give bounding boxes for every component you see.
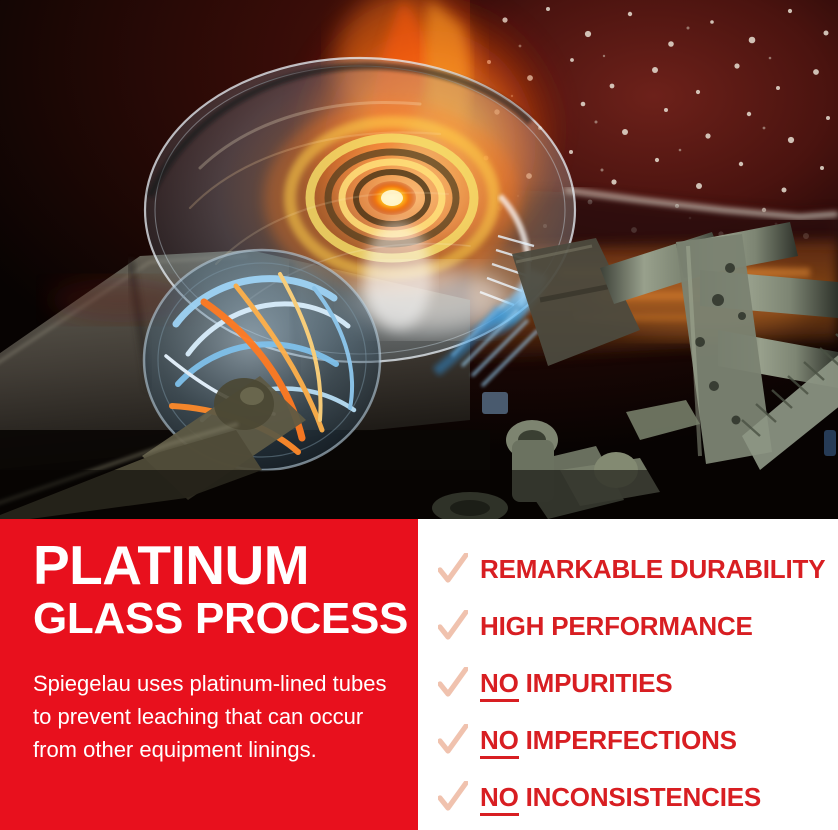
- benefit-negation: NO: [480, 725, 519, 759]
- benefit-item-high-performance: HIGH PERFORMANCE: [438, 604, 838, 648]
- benefit-label-rest: IMPURITIES: [519, 668, 673, 698]
- benefit-label: NO IMPERFECTIONS: [480, 725, 737, 756]
- benefit-negation: NO: [480, 782, 519, 816]
- check-icon: [438, 667, 468, 699]
- check-icon: [438, 553, 468, 585]
- check-icon: [438, 724, 468, 756]
- page-title-line2: GLASS PROCESS: [33, 596, 408, 642]
- check-icon: [438, 781, 468, 813]
- description-line-1: Spiegelau uses platinum-lined tubes: [33, 667, 393, 700]
- platinum-glass-process-poster: PLATINUM GLASS PROCESS Spiegelau uses pl…: [0, 0, 838, 830]
- benefit-item-remarkable-durability: REMARKABLE DURABILITY: [438, 547, 838, 591]
- description-line-3: from other equipment linings.: [33, 733, 393, 766]
- benefit-label-rest: INCONSISTENCIES: [519, 782, 761, 812]
- benefit-item-no-imperfections: NO IMPERFECTIONS: [438, 718, 838, 762]
- benefit-label: HIGH PERFORMANCE: [480, 611, 753, 642]
- benefit-label-rest: IMPERFECTIONS: [519, 725, 737, 755]
- page-title-line1: PLATINUM: [33, 537, 309, 593]
- benefit-label: REMARKABLE DURABILITY: [480, 554, 825, 585]
- benefit-item-no-impurities: NO IMPURITIES: [438, 661, 838, 705]
- glassblowing-photo: [0, 0, 838, 519]
- benefit-negation: NO: [480, 668, 519, 702]
- description-line-2: to prevent leaching that can occur: [33, 700, 393, 733]
- description-text: Spiegelau uses platinum-lined tubes to p…: [33, 667, 393, 766]
- check-icon: [438, 610, 468, 642]
- benefit-item-no-inconsistencies: NO INCONSISTENCIES: [438, 775, 838, 819]
- benefits-panel: REMARKABLE DURABILITY HIGH PERFORMANCE N…: [418, 519, 838, 830]
- red-text-panel: PLATINUM GLASS PROCESS Spiegelau uses pl…: [0, 519, 418, 830]
- benefit-label: NO INCONSISTENCIES: [480, 782, 761, 813]
- benefit-label: NO IMPURITIES: [480, 668, 672, 699]
